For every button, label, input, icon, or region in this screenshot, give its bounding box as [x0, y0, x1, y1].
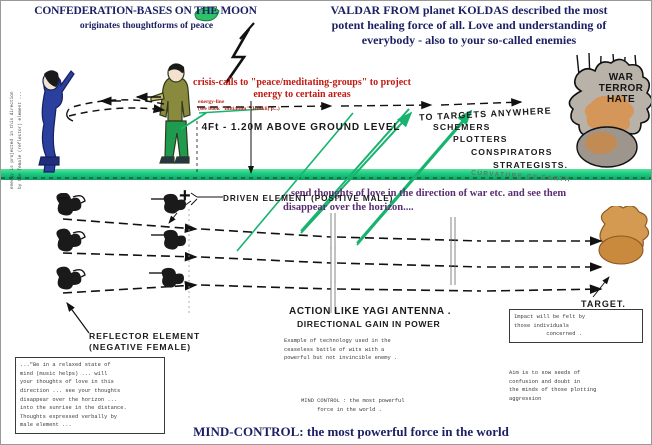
directional-gain-label: DIRECTIONAL GAIN IN POWER	[297, 319, 440, 329]
vertical-energy-note: energy is projected in this direction by…	[9, 57, 24, 189]
relaxed-state-note-box: ..."Be in a relaxed state of mind (music…	[15, 357, 165, 434]
crisis-calls-note: crisis-calls to "peace/meditating-groups…	[189, 77, 415, 100]
to-targets-label: TO TARGETS ANYWHERE	[419, 106, 552, 123]
plus-sign-label: +	[179, 185, 191, 208]
yagi-action-label: ACTION LIKE YAGI ANTENNA .	[289, 306, 451, 317]
confederation-subtitle: originates thoughtforms of peace	[39, 21, 254, 32]
impact-note-box: Impact will be felt by those individuals…	[509, 309, 643, 343]
female-figure	[27, 61, 79, 173]
valdar-heading: VALDAR FROM planet KOLDAS described the …	[319, 3, 619, 48]
explosion-words-label: WAR TERROR HATE	[595, 73, 647, 105]
confederation-title: CONFEDERATION-BASES ON THE MOON	[23, 5, 268, 18]
bottom-banner: MIND-CONTROL: the most powerful force in…	[151, 425, 551, 440]
target-explosion-icon	[591, 206, 652, 272]
reflector-element-label: REFLECTOR ELEMENT (NEGATIVE FEMALE)	[89, 331, 200, 353]
conspirators-label: CONSPIRATORS	[471, 147, 553, 157]
schemers-label: SCHEMERS	[433, 122, 491, 132]
energy-line-note: energy-line (see book "Initiation" (Hink…	[198, 99, 308, 113]
driven-element-label: DRIVEN ELEMENT (POSITIVE MALE)	[223, 194, 393, 203]
height-note-label: 4Ft - 1.20M ABOVE GROUND LEVEL	[196, 121, 406, 135]
aim-note: Aim is to sow seeds of confusion and dou…	[509, 369, 641, 404]
plotters-label: PLOTTERS	[453, 134, 508, 144]
diagram-canvas: WAR TERROR HATE	[0, 0, 652, 445]
target-label: TARGET.	[581, 299, 626, 309]
mind-control-note: MIND CONTROL : the most powerful force i…	[301, 397, 481, 414]
antenna-element-icons	[53, 193, 213, 313]
minus-sign-label: –	[58, 187, 69, 210]
example-technology-note: Example of technology used in the ceasel…	[284, 337, 444, 363]
explosion-cloud-icon	[561, 51, 652, 181]
strategists-label: STRATEGISTS.	[493, 160, 568, 170]
